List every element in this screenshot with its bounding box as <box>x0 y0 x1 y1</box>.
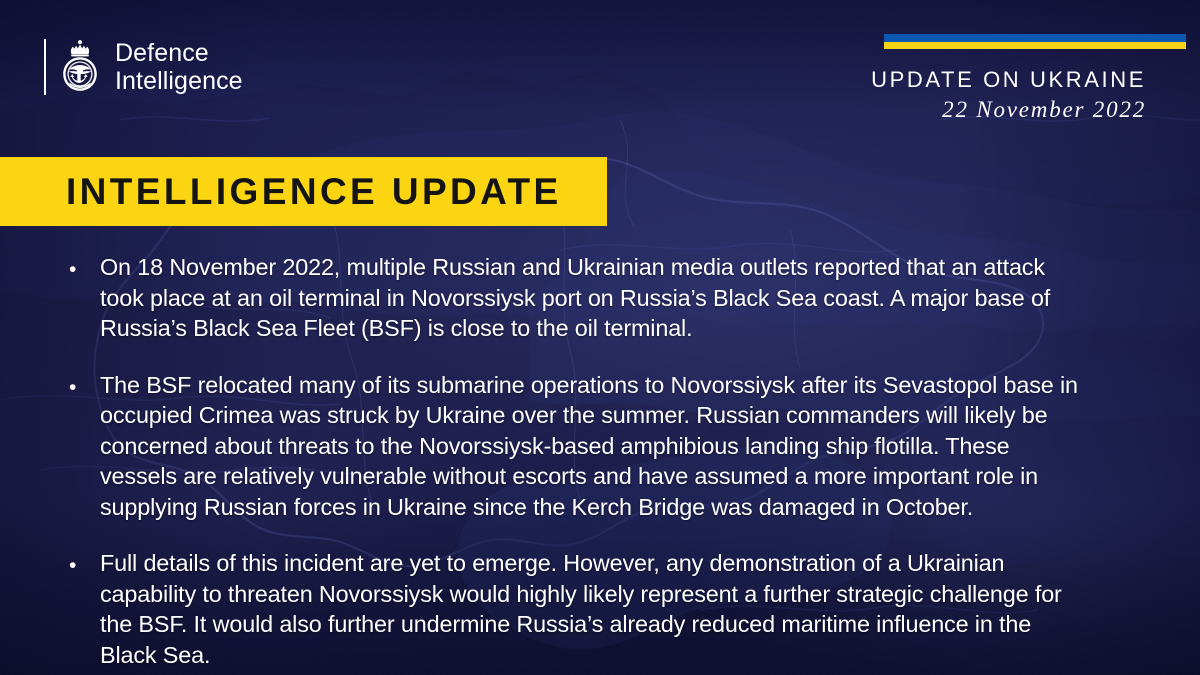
brand-name: Defence Intelligence <box>115 39 243 95</box>
bullet-marker-icon: • <box>62 370 100 523</box>
bullet-text: The BSF relocated many of its submarine … <box>100 370 1087 523</box>
header-right-block: UPDATE ON UKRAINE 22 November 2022 <box>866 34 1186 125</box>
defence-intelligence-crest-icon <box>59 39 101 95</box>
bullet-marker-icon: • <box>62 548 100 670</box>
intelligence-update-banner: INTELLIGENCE UPDATE <box>0 157 607 226</box>
list-item: • On 18 November 2022, multiple Russian … <box>62 252 1087 344</box>
ukraine-flag-bar-icon <box>884 34 1186 49</box>
bullet-marker-icon: • <box>62 252 100 344</box>
bullet-text: On 18 November 2022, multiple Russian an… <box>100 252 1087 344</box>
bullet-text: Full details of this incident are yet to… <box>100 548 1087 670</box>
flag-stripe-yellow <box>884 42 1186 49</box>
banner-label: INTELLIGENCE UPDATE <box>66 171 562 213</box>
list-item: • The BSF relocated many of its submarin… <box>62 370 1087 523</box>
header-date: 22 November 2022 <box>866 95 1146 125</box>
list-item: • Full details of this incident are yet … <box>62 548 1087 670</box>
brand-lockup: Defence Intelligence <box>44 36 243 98</box>
intelligence-update-poster: Defence Intelligence UPDATE ON UKRAINE 2… <box>0 0 1200 675</box>
brand-divider <box>44 39 46 95</box>
header-title: UPDATE ON UKRAINE <box>866 67 1146 93</box>
bullet-list: • On 18 November 2022, multiple Russian … <box>62 252 1087 670</box>
flag-stripe-blue <box>884 34 1186 42</box>
